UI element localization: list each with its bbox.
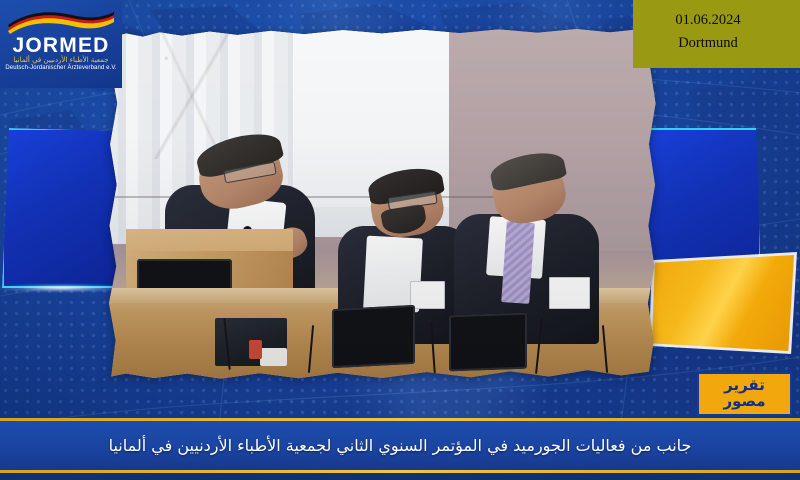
gold-accent-parallelogram — [652, 255, 794, 351]
bottom-strip — [0, 473, 800, 480]
left-accent-trapezoid — [2, 128, 120, 288]
logo-arabic-subtitle: جمعية الأطباء الأردنيين في ألمانيا — [0, 56, 122, 64]
date-location-block: 01.06.2024 Dortmund — [633, 0, 800, 68]
logo-wordmark: JORMED — [0, 34, 122, 58]
jormed-logo[interactable]: JORMED جمعية الأطباء الأردنيين في ألماني… — [0, 0, 122, 88]
conference-photo — [104, 22, 660, 392]
photo-shading — [104, 22, 660, 392]
badge-line-2: مصور — [723, 394, 765, 410]
poster-canvas: JORMED جمعية الأطباء الأردنيين في ألماني… — [0, 0, 800, 480]
caption-text: جانب من فعاليات الجورميد في المؤتمر السن… — [0, 421, 800, 470]
photo-frame — [104, 22, 660, 392]
logo-german-subtitle: Deutsch-Jordanischer Ärzteverband e.V. — [0, 65, 122, 71]
event-date: 01.06.2024 — [633, 13, 783, 28]
german-flag-swoosh-icon — [6, 8, 116, 34]
event-location: Dortmund — [633, 36, 783, 51]
photo-report-badge[interactable]: تقرير مصور — [697, 372, 792, 416]
photo-clip — [104, 22, 660, 392]
